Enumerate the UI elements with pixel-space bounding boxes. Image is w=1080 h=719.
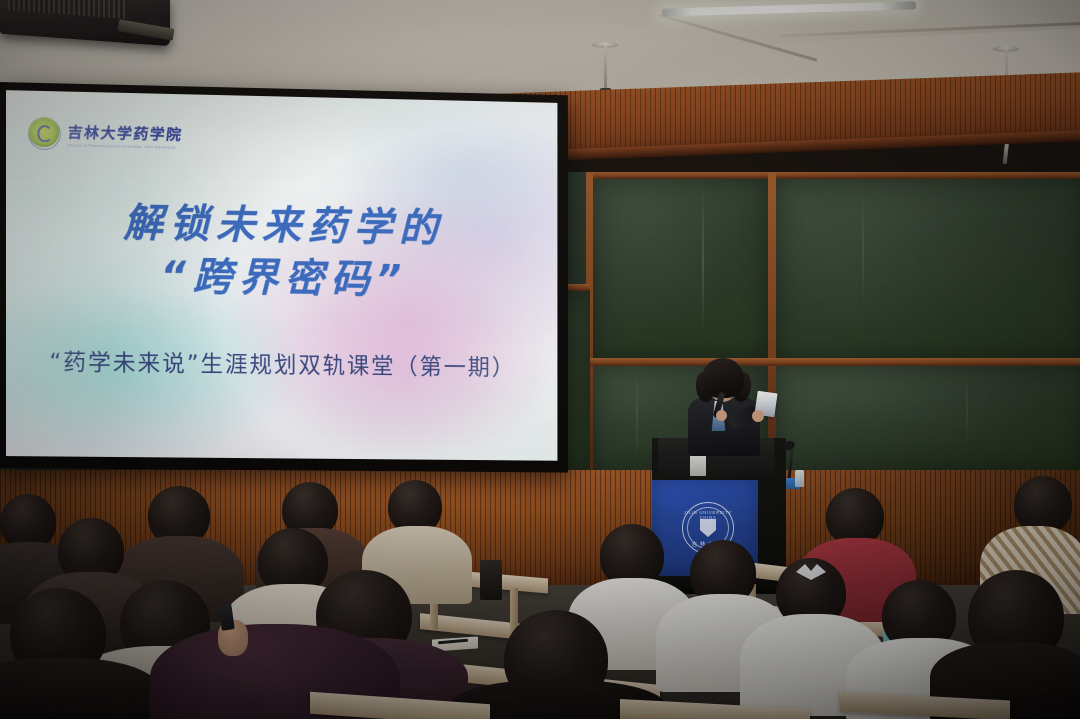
slide-title: 解锁未来药学的 “跨界密码”	[6, 198, 557, 307]
slide-logo: 吉林大学药学院 School of Pharmaceutical Science…	[28, 117, 183, 153]
audience	[0, 452, 1080, 719]
lecture-hall-photo: 吉林大学药学院 School of Pharmaceutical Science…	[0, 0, 1080, 719]
projected-slide: 吉林大学药学院 School of Pharmaceutical Science…	[6, 90, 557, 461]
chalk-streak	[702, 186, 704, 336]
presenter-hand-mic	[716, 410, 727, 421]
speaker-rod-left	[604, 46, 607, 90]
chalkboard-panel-upper-right	[776, 179, 1080, 358]
presenter	[676, 358, 784, 454]
slide-title-line1: 解锁未来药学的	[6, 198, 557, 255]
slide-title-line2: “跨界密码”	[6, 251, 557, 306]
chalk-streak	[862, 192, 864, 312]
backpack	[480, 560, 502, 600]
slide-logo-chinese: 吉林大学药学院	[67, 121, 184, 144]
chalkboard-panel-upper-left	[593, 179, 768, 358]
projection-screen: 吉林大学药学院 School of Pharmaceutical Science…	[0, 82, 568, 473]
speaker-arm-right	[1003, 142, 1009, 164]
chalk-streak	[636, 370, 638, 460]
audience-shoulders-foreground	[0, 658, 160, 719]
slide-subtitle: “药学未来说”生涯规划双轨课堂（第一期）	[6, 342, 557, 382]
slide-logo-text: 吉林大学药学院 School of Pharmaceutical Science…	[68, 121, 183, 149]
chalkboard-frame-middle	[586, 358, 1080, 366]
university-crest-icon	[28, 117, 61, 151]
chalkboard-frame-top	[586, 172, 1080, 179]
presenter-hand-card	[752, 410, 764, 422]
chalk-streak	[966, 372, 968, 452]
vent-grille-icon	[8, 0, 128, 19]
